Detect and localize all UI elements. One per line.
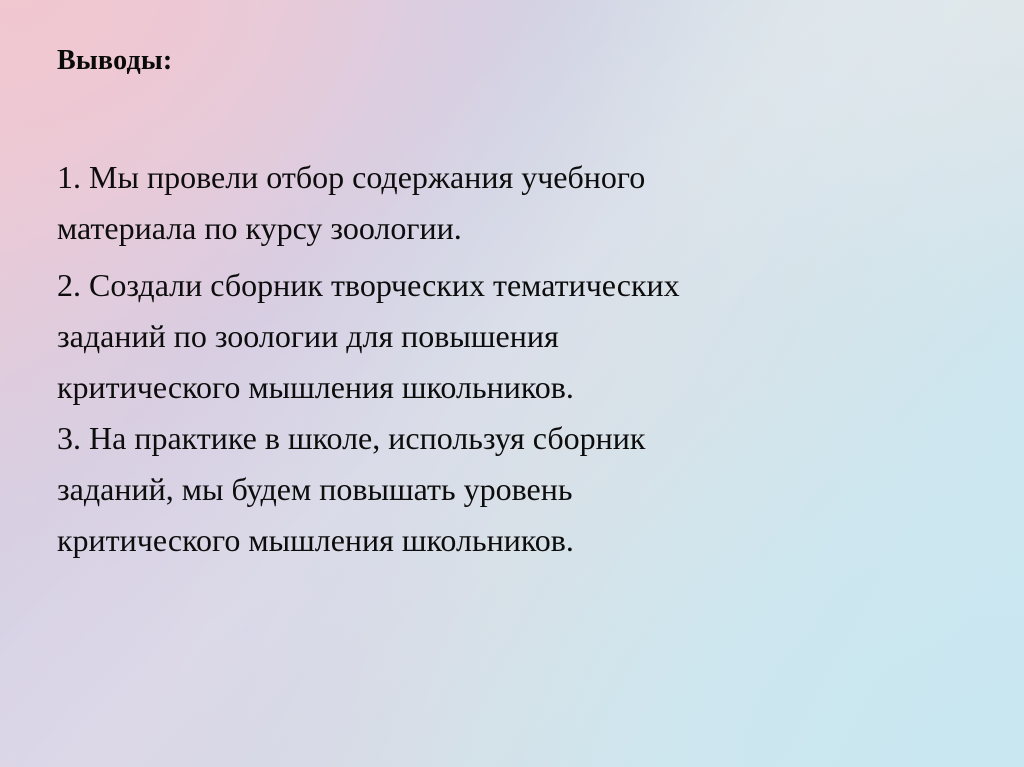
- conclusion-item-2-line-2: заданий по зоологии для повышения: [57, 311, 937, 362]
- conclusion-item-2: 2. Создали сборник творческих тематическ…: [57, 260, 937, 413]
- slide-title: Выводы:: [57, 45, 172, 77]
- conclusion-item-3: 3. На практике в школе, используя сборни…: [57, 413, 937, 566]
- conclusions-list: 1. Мы провели отбор содержания учебного …: [57, 152, 937, 566]
- conclusion-item-1: 1. Мы провели отбор содержания учебного …: [57, 152, 937, 254]
- conclusion-item-1-line-2: материала по курсу зоологии.: [57, 203, 937, 254]
- conclusion-item-2-line-3: критического мышления школьников.: [57, 362, 937, 413]
- conclusion-item-2-line-1: 2. Создали сборник творческих тематическ…: [57, 260, 937, 311]
- conclusion-item-3-line-2: заданий, мы будем повышать уровень: [57, 464, 937, 515]
- conclusion-item-3-line-3: критического мышления школьников.: [57, 515, 937, 566]
- conclusion-item-1-line-1: 1. Мы провели отбор содержания учебного: [57, 152, 937, 203]
- conclusion-item-3-line-1: 3. На практике в школе, используя сборни…: [57, 413, 937, 464]
- presentation-slide: Выводы: 1. Мы провели отбор содержания у…: [0, 0, 1024, 767]
- slide-content: Выводы: 1. Мы провели отбор содержания у…: [0, 0, 1024, 767]
